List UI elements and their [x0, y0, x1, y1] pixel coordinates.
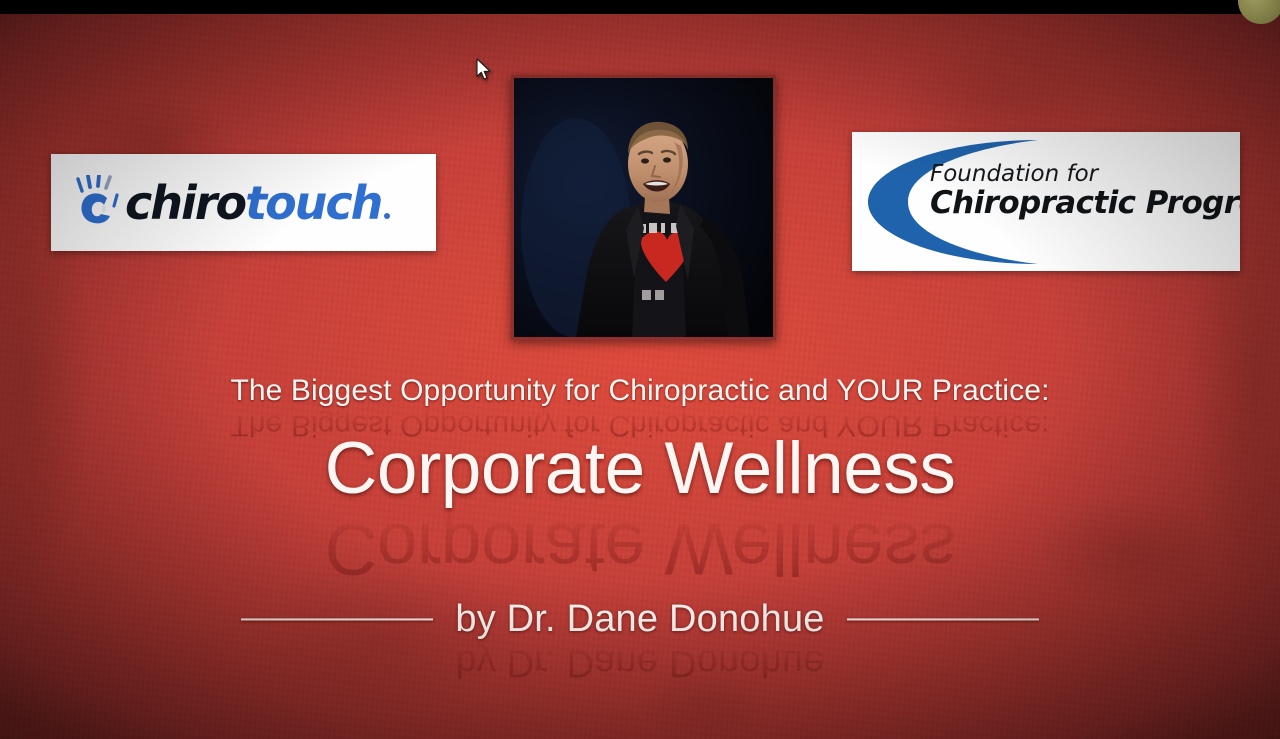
top-letterbox-bar: [0, 0, 1280, 14]
chirotouch-registered-dot: [384, 213, 390, 219]
chirotouch-wordmark: chirotouch: [125, 180, 390, 226]
logo-chirotouch: chirotouch: [51, 154, 436, 251]
byline-rule-right: [847, 618, 1039, 621]
slide-subtitle-row: The Biggest Opportunity for Chiropractic…: [0, 376, 1280, 406]
slide-title-row: Corporate WellnessCorporate Wellness: [0, 432, 1280, 505]
fcp-line-1: Foundation for: [930, 162, 1230, 186]
chirotouch-word-part-1: chiro: [125, 176, 245, 230]
screen-root: chirotouch Foundation for Chiropractic P…: [0, 0, 1280, 739]
hand-icon: [73, 175, 125, 231]
logo-foundation-chiropractic-progress: Foundation for Chiropractic Progress: [852, 132, 1240, 271]
fcp-line-2: Chiropractic Progress: [930, 187, 1230, 220]
speaker-photo: [511, 75, 776, 340]
slide-byline: by Dr. Dane Donohueby Dr. Dane Donohue: [455, 600, 824, 638]
slide-title: Corporate WellnessCorporate Wellness: [325, 432, 956, 505]
slide-byline-reflection: by Dr. Dane Donohue: [455, 638, 824, 682]
byline-rule-left: [241, 618, 433, 621]
slide-title-reflection: Corporate Wellness: [325, 505, 956, 585]
slide-subtitle: The Biggest Opportunity for Chiropractic…: [230, 376, 1049, 406]
slide-byline-row: by Dr. Dane Donohueby Dr. Dane Donohue: [0, 600, 1280, 638]
chirotouch-word-part-2: touch: [245, 176, 381, 230]
presentation-slide[interactable]: chirotouch Foundation for Chiropractic P…: [0, 14, 1280, 739]
